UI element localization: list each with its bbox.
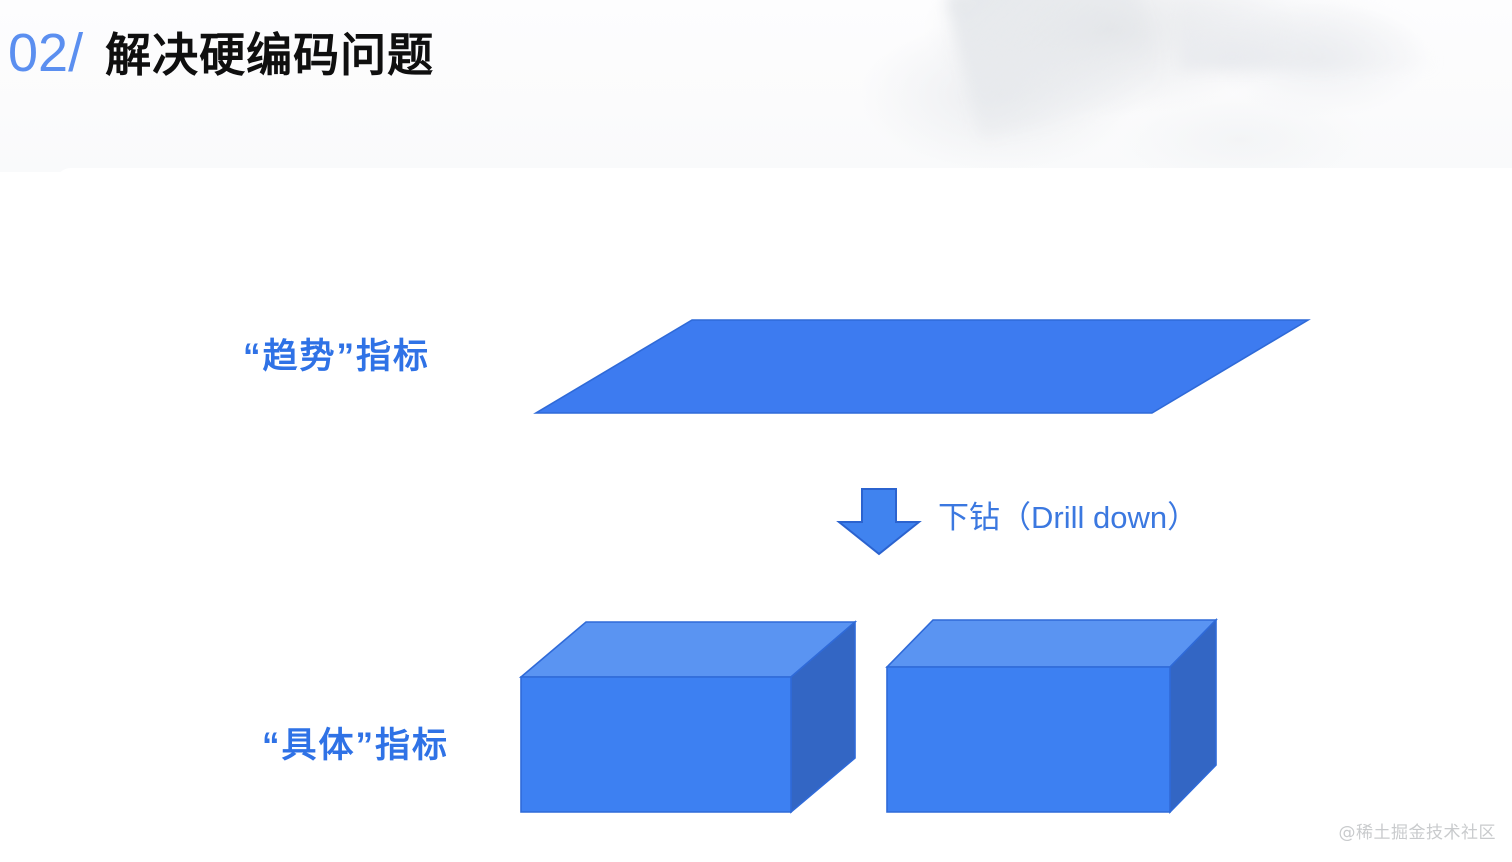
drill-down-label: 下钻（Drill down） [938, 492, 1198, 537]
header-decorative-wash-right [1180, 0, 1440, 70]
watermark: @稀土掘金技术社区 [1339, 818, 1497, 843]
page-title: 02/ 解决硬编码问题 [8, 26, 434, 80]
slide-canvas: 02/ 解决硬编码问题 “趋势”指标 下钻（Drill down） “具体”指标… [0, 0, 1512, 862]
section-number: 02/ [8, 26, 83, 80]
header-decorative-wash-left [945, 0, 1166, 141]
trend-metric-label: “趋势”指标 [243, 328, 430, 379]
page-title-text: 解决硬编码问题 [105, 32, 434, 78]
detail-metric-label: “具体”指标 [262, 717, 449, 768]
